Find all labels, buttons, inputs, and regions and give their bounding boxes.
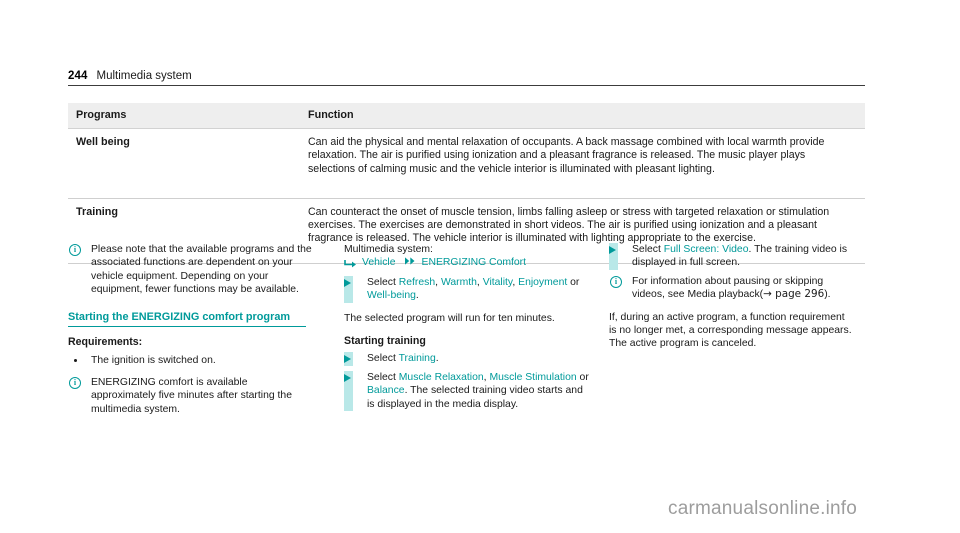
column-left: i Please note that the available program… — [68, 243, 314, 425]
chapter-title: Multimedia system — [97, 70, 192, 82]
step-rule — [609, 243, 618, 270]
menu-path: Vehicle ENERGIZING Comfort — [344, 256, 590, 269]
menu-option-refresh[interactable]: Refresh — [399, 277, 435, 288]
section-heading-starting-energizing: Starting the ENERGIZING comfort program — [68, 311, 306, 327]
info-circle-icon: i — [610, 276, 622, 288]
menu-option-full-screen-video[interactable]: Full Screen: Video — [664, 244, 749, 255]
triangle-right-icon — [344, 355, 351, 363]
info-note: i ENERGIZING comfort is available approx… — [68, 376, 314, 416]
program-name: Well being — [68, 129, 300, 199]
triangle-right-icon — [344, 279, 351, 287]
info-note-text: Please note that the available programs … — [91, 244, 312, 295]
step-rule — [344, 352, 353, 365]
step-period: . — [748, 244, 751, 255]
step-conjunction: or — [567, 277, 579, 288]
double-chevron-right-icon — [405, 256, 416, 269]
menu-path-item-vehicle[interactable]: Vehicle — [362, 256, 396, 269]
requirement-text: The ignition is switched on. — [91, 355, 216, 366]
step-period: . — [416, 290, 419, 301]
closing-paragraph: If, during an active program, a function… — [609, 311, 855, 351]
cross-reference-page-296[interactable]: → page 296 — [763, 288, 824, 300]
requirement-list-item: The ignition is switched on. — [68, 354, 314, 367]
step-verb: Select — [632, 244, 664, 255]
info-note: i Please note that the available program… — [68, 243, 314, 297]
triangle-right-icon — [609, 246, 616, 254]
procedure-step: Select Refresh, Warmth, Vitality, Enjoym… — [344, 276, 590, 303]
info-note-text: ENERGIZING comfort is available approxim… — [91, 377, 292, 415]
site-watermark: carmanualsonline.info — [668, 498, 857, 520]
info-note: i For information about pausing or skipp… — [609, 275, 855, 302]
menu-option-balance[interactable]: Balance — [367, 385, 405, 396]
column-middle: Multimedia system: Vehicle ENERGIZING Co… — [344, 243, 590, 416]
enter-menu-arrow-icon — [344, 259, 357, 268]
programs-table: Programs Function Well being Can aid the… — [68, 103, 865, 264]
menu-option-enjoyment[interactable]: Enjoyment — [518, 277, 567, 288]
step-verb: Select — [367, 277, 399, 288]
column-header-function: Function — [300, 103, 865, 129]
step-conjunction: or — [577, 372, 589, 383]
menu-option-warmth[interactable]: Warmth — [441, 277, 477, 288]
triangle-right-icon — [344, 374, 351, 382]
page-number: 244 — [68, 70, 88, 82]
procedure-step: Select Training. — [344, 352, 590, 365]
column-right: Select Full Screen: Video. The training … — [609, 243, 855, 359]
program-function: Can aid the physical and mental relaxati… — [300, 129, 865, 199]
info-note-text-end: ). — [824, 289, 830, 300]
requirements-label: Requirements: — [68, 336, 314, 349]
menu-path-item-energizing-comfort[interactable]: ENERGIZING Comfort — [422, 256, 527, 269]
step-rule — [344, 371, 353, 411]
bullet-dot-icon — [74, 359, 77, 362]
info-circle-icon: i — [69, 377, 81, 389]
menu-option-vitality[interactable]: Vitality — [483, 277, 513, 288]
step-rule — [344, 276, 353, 303]
procedure-step: Select Muscle Relaxation, Muscle Stimula… — [344, 371, 590, 411]
step-period: . — [436, 353, 439, 364]
step-verb: Select — [367, 372, 399, 383]
running-header: 244 Multimedia system — [68, 70, 865, 86]
manual-page: 244 Multimedia system Programs Function … — [0, 0, 960, 533]
procedure-step: Select Full Screen: Video. The training … — [609, 243, 855, 270]
menu-option-muscle-stimulation[interactable]: Muscle Stimulation — [489, 372, 576, 383]
table-row: Well being Can aid the physical and ment… — [68, 129, 865, 199]
multimedia-system-intro: Multimedia system: — [344, 243, 590, 256]
column-header-programs: Programs — [68, 103, 300, 129]
info-circle-icon: i — [69, 244, 81, 256]
subheading-starting-training: Starting training — [344, 335, 590, 348]
menu-option-training[interactable]: Training — [399, 353, 436, 364]
table-header-row: Programs Function — [68, 103, 865, 129]
step-result-program-duration: The selected program will run for ten mi… — [344, 312, 590, 325]
step-period: . — [405, 385, 408, 396]
body-columns: i Please note that the available program… — [68, 243, 865, 473]
menu-option-muscle-relaxation[interactable]: Muscle Relaxation — [399, 372, 484, 383]
menu-option-well-being[interactable]: Well-being — [367, 290, 416, 301]
step-verb: Select — [367, 353, 399, 364]
